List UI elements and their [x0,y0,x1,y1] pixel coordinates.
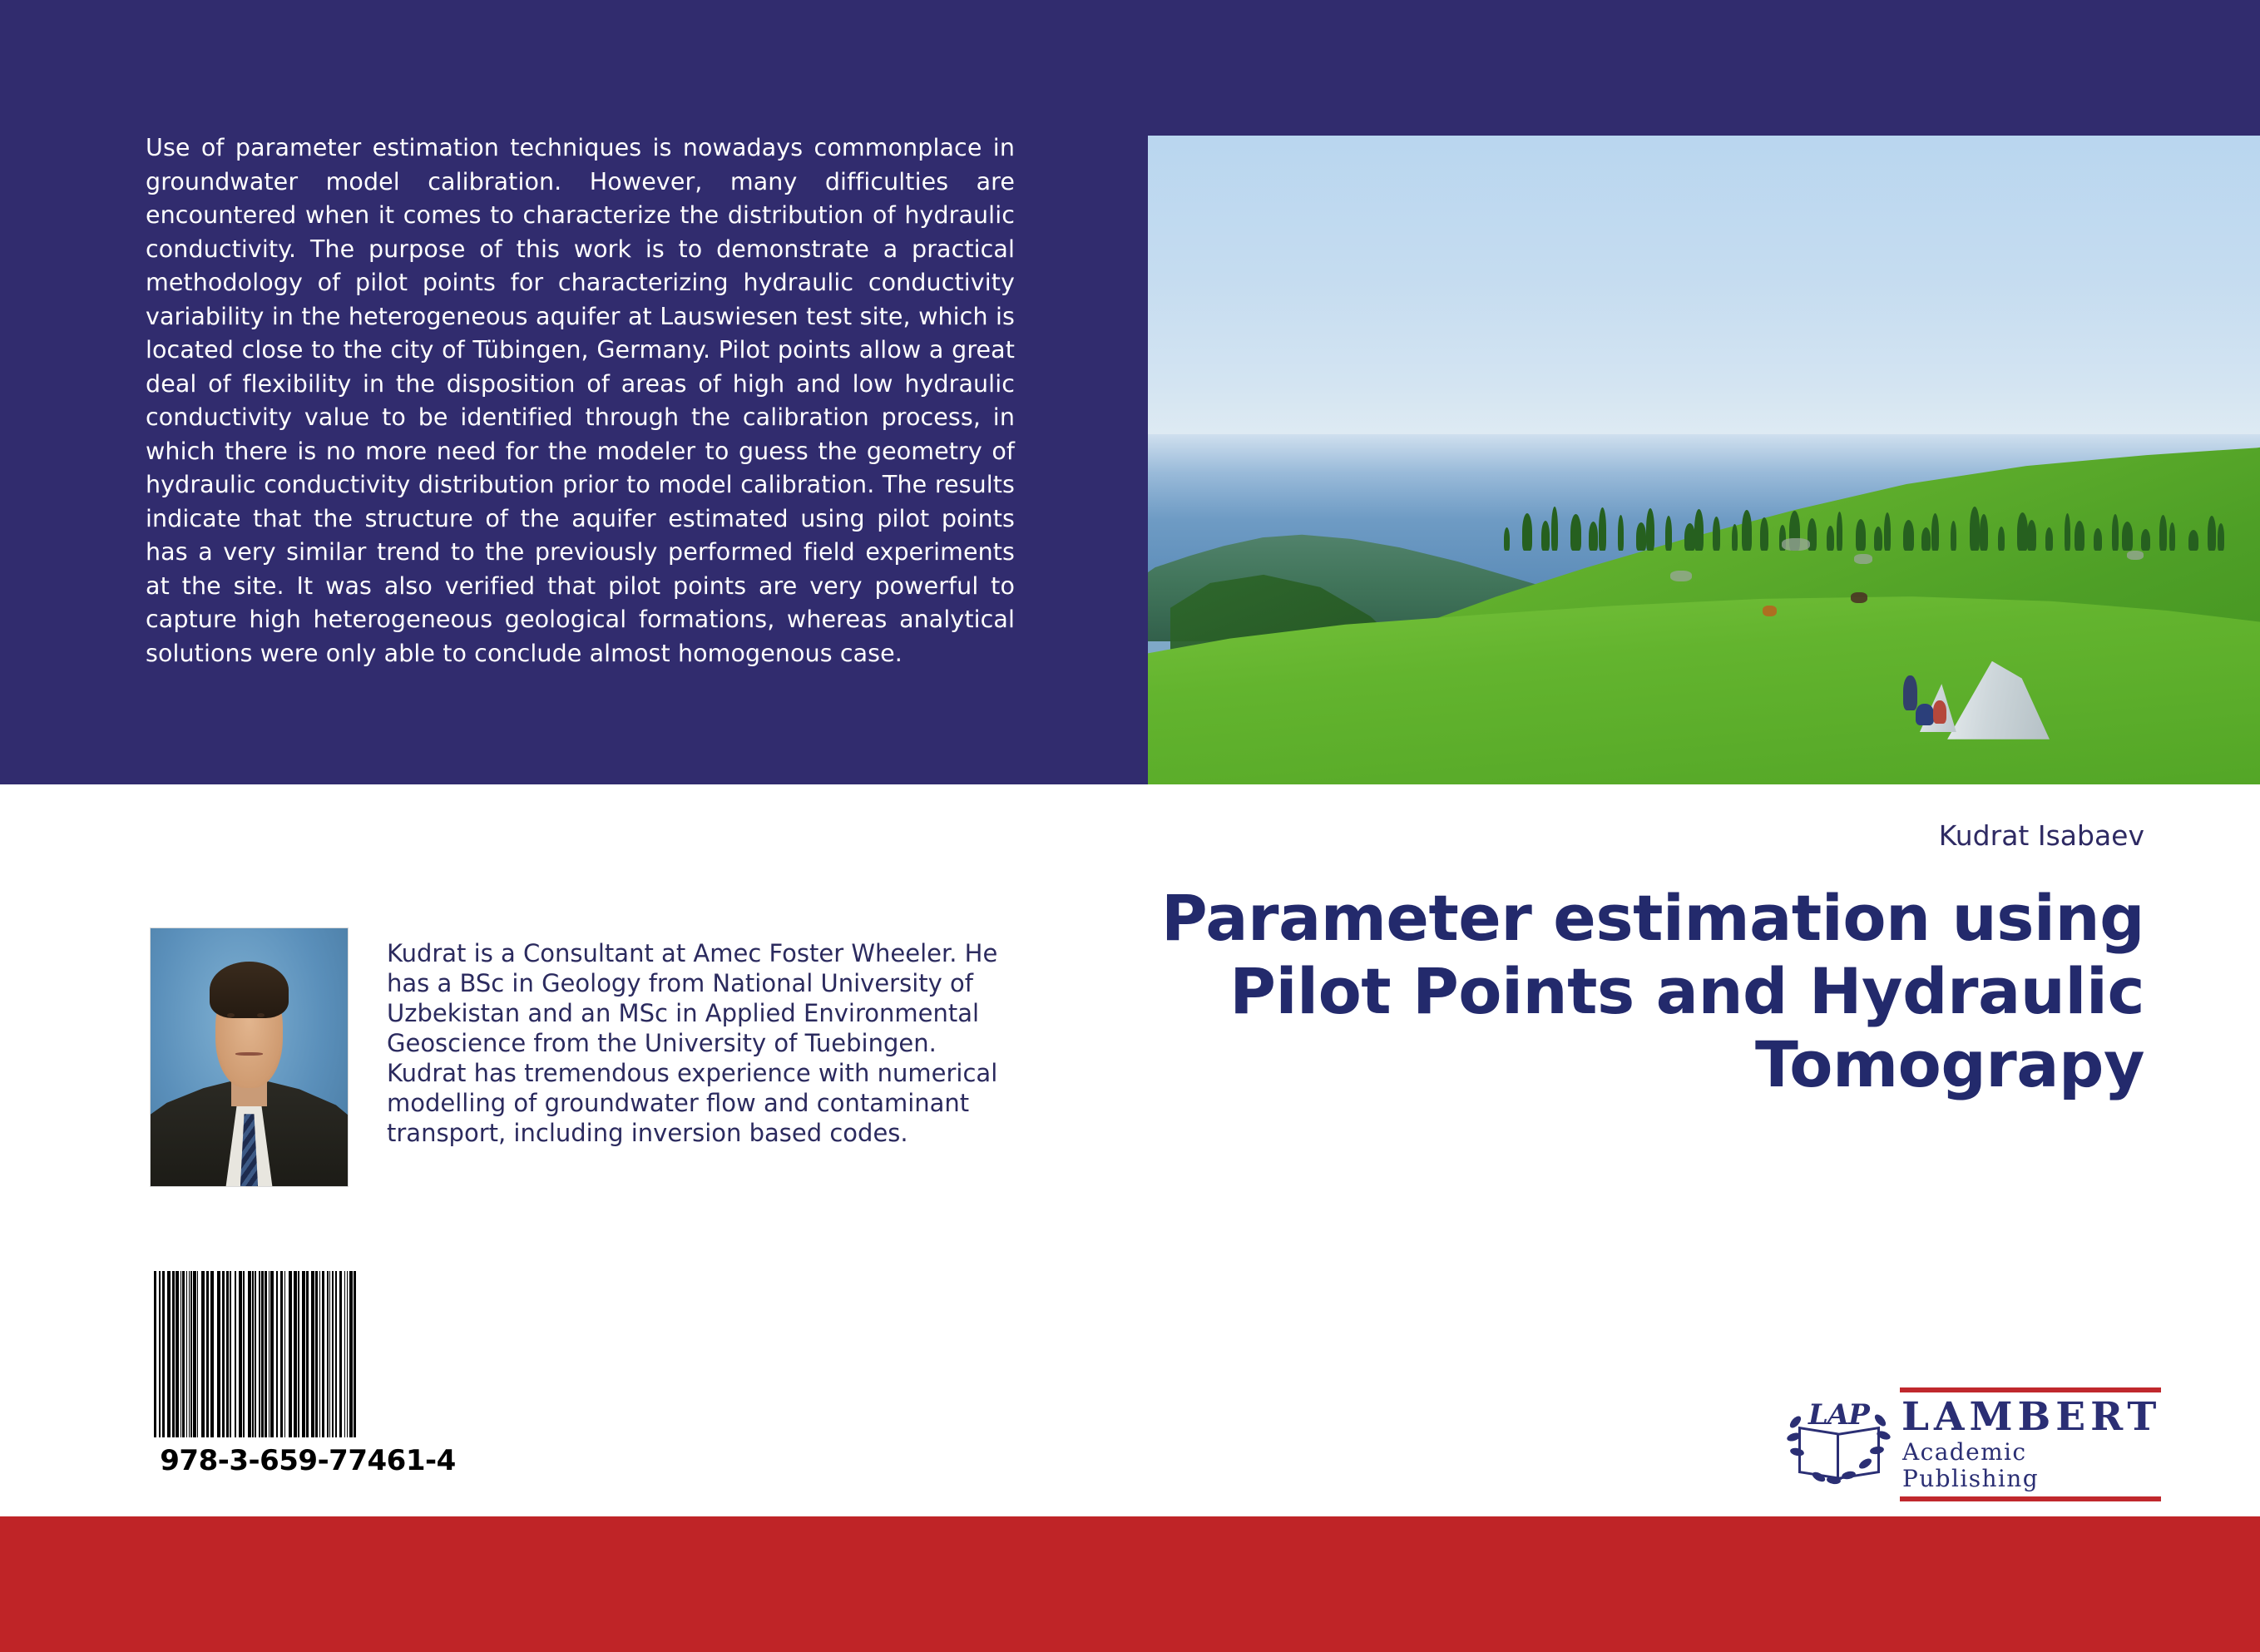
tree [1837,512,1842,551]
tree [2094,528,2102,551]
rock-outcrop-1 [1670,571,1692,581]
tree [1551,507,1558,551]
tree [2045,527,2053,551]
tree [1541,521,1550,551]
tree [1998,527,2005,551]
portrait-mouth [235,1052,263,1056]
rock-outcrop-4 [2127,551,2144,560]
rock-outcrop-2 [1782,538,1810,551]
tree [1713,517,1720,551]
camper-person-3 [1933,700,1946,724]
publisher-name: LAMBERT [1901,1396,2161,1439]
tree [2112,514,2119,551]
tree [1742,510,1752,551]
tree [2141,529,2150,551]
logo-rule-top [1900,1387,2161,1392]
tree [1970,507,1980,551]
tree [2122,522,2133,551]
tree [2188,530,2198,551]
tree [1760,517,1768,551]
tree [1931,513,1939,551]
tree [1921,527,1931,551]
isbn-number: 978-3-659-77461-4 [154,1444,462,1477]
tree [1665,516,1672,551]
rock-outcrop-3 [1854,554,1872,564]
open-book-icon [1798,1430,1877,1476]
tree [2017,512,2028,551]
tree [1694,509,1704,551]
book-cover: Use of parameter estimation techniques i… [0,0,2260,1652]
tree [1980,514,1988,551]
tree-line [1504,486,2238,551]
tree [1684,523,1695,551]
tree [1636,522,1646,551]
tree [2218,523,2224,551]
tree [1522,513,1532,551]
tree [1827,526,1834,551]
isbn-barcode [154,1271,462,1437]
author-bio: Kudrat is a Consultant at Amec Foster Wh… [387,938,1006,1148]
tree [1874,527,1882,551]
tree [1884,512,1891,551]
tree [1504,527,1510,551]
tree [1646,508,1654,551]
author-portrait [150,927,349,1187]
book-title: Parameter estimation using Pilot Points … [1013,882,2144,1101]
book-page-left [1798,1427,1842,1480]
livestock-orange [1763,606,1777,616]
logo-rule-bottom [1900,1496,2161,1501]
portrait-hair [210,962,289,1018]
laurel-leaf [1872,1412,1887,1428]
lap-acronym: LAP [1808,1398,1869,1432]
tree [1732,524,1738,551]
tree [1589,522,1598,551]
tree [2208,516,2216,551]
tree [1951,521,1956,551]
bottom-red-band [0,1516,2260,1652]
tree [2075,521,2084,551]
tree [2169,522,2175,551]
tree [2159,515,2167,551]
cover-photo [1148,136,2260,784]
tree [1618,515,1624,551]
camper-person-1 [1903,675,1917,710]
publisher-logo: LAP LAMBERT Academic Publishing [1787,1394,2154,1494]
tree [1856,519,1866,551]
tree [2065,513,2070,551]
tree [2027,520,2036,551]
tree [1599,507,1606,551]
tree [1903,520,1914,551]
livestock-dark [1851,592,1867,603]
lap-emblem-icon: LAP [1787,1397,1892,1491]
tree [1570,514,1581,551]
publisher-tagline: Academic Publishing [1902,1439,2161,1492]
barcode-block: 978-3-659-77461-4 [154,1271,462,1477]
publisher-wordmark: LAMBERT Academic Publishing [1900,1387,2161,1501]
front-cover-author: Kudrat Isabaev [1939,819,2144,852]
back-cover-blurb: Use of parameter estimation techniques i… [146,131,1015,670]
camper-person-2 [1916,704,1934,725]
